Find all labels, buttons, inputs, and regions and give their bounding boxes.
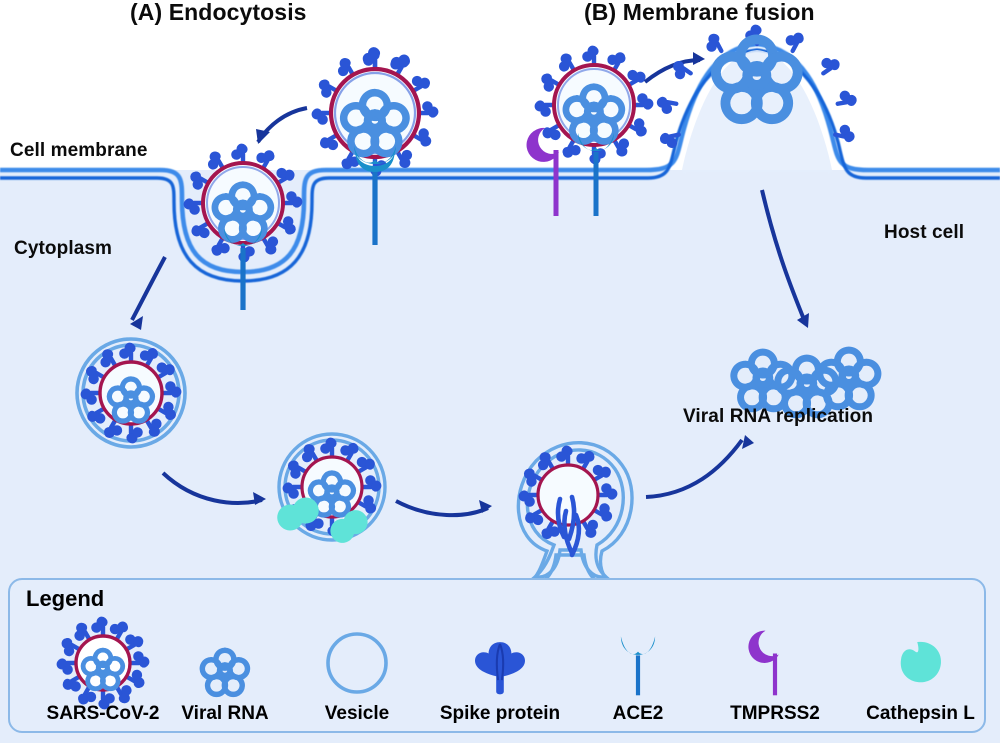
ace2-receptor-a bbox=[354, 146, 396, 245]
tmprss2-protease-icon bbox=[700, 625, 850, 701]
cytoplasm-label: Cytoplasm bbox=[14, 238, 112, 260]
legend-title: Legend bbox=[26, 586, 104, 612]
endosome-virion-1 bbox=[77, 339, 185, 447]
viral-rna-icon bbox=[160, 625, 290, 701]
figure-canvas: (A) Endocytosis (B) Membrane fusion Cell… bbox=[0, 0, 1000, 743]
virion-extracellular-b bbox=[535, 46, 654, 165]
ace2-receptor-icon bbox=[578, 625, 698, 701]
vesicle-icon bbox=[292, 625, 422, 701]
legend-label-cathepsin-l: Cathepsin L bbox=[848, 703, 993, 725]
arrow-endosome2-to-fusing-vesicle bbox=[396, 500, 492, 515]
legend-item-ace2[interactable]: ACE2 bbox=[578, 625, 698, 725]
legend-label-vesicle: Vesicle bbox=[292, 703, 422, 725]
legend-label-tmprss2: TMPRSS2 bbox=[700, 703, 850, 725]
legend-item-spike-protein[interactable]: Spike protein bbox=[420, 625, 580, 725]
viral-rna-replication-label: Viral RNA replication bbox=[683, 406, 873, 428]
legend-label-ace2: ACE2 bbox=[578, 703, 698, 725]
legend-item-vesicle[interactable]: Vesicle bbox=[292, 625, 422, 725]
cell-membrane-label: Cell membrane bbox=[10, 140, 148, 162]
cathepsin-l-icon bbox=[848, 625, 993, 701]
arrow-endosome1-to-endosome2 bbox=[163, 473, 266, 505]
endosome-virion-2-with-cathepsin bbox=[277, 434, 385, 543]
spike-protein-icon bbox=[420, 625, 580, 701]
legend-item-tmprss2[interactable]: TMPRSS2 bbox=[700, 625, 850, 725]
legend-label-spike-protein: Spike protein bbox=[420, 703, 580, 725]
legend-item-viral-rna[interactable]: Viral RNA bbox=[160, 625, 290, 725]
host-cell-label: Host cell bbox=[884, 222, 964, 244]
virion-extracellular-a bbox=[312, 48, 439, 245]
arrow-virion-to-pit bbox=[256, 108, 307, 144]
arrow-pit-to-endosome bbox=[130, 257, 165, 330]
legend-item-cathepsin-l[interactable]: Cathepsin L bbox=[848, 625, 993, 725]
panel-b-title: (B) Membrane fusion bbox=[584, 0, 815, 26]
panel-a-title: (A) Endocytosis bbox=[130, 0, 307, 26]
endosome-fusing-release bbox=[518, 443, 632, 586]
legend-label-viral-rna: Viral RNA bbox=[160, 703, 290, 725]
arrow-release-to-replication bbox=[646, 435, 754, 497]
